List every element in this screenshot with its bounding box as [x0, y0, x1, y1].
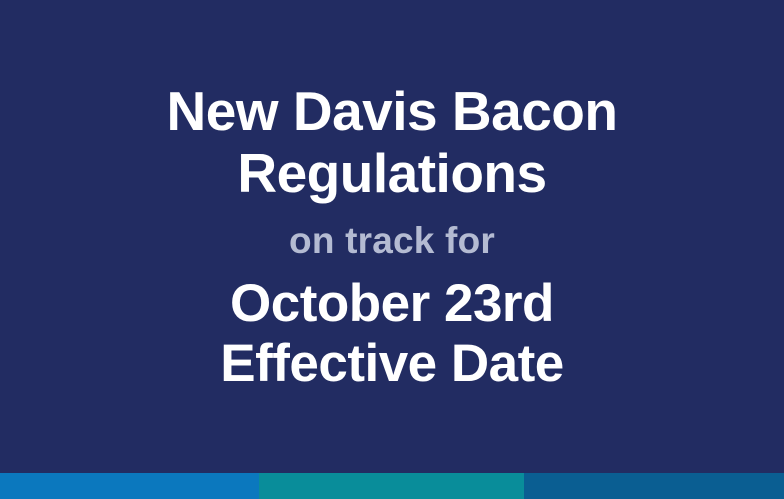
- date-headline-line-2: Effective Date: [220, 334, 564, 394]
- accent-bar-segment-blue: [0, 473, 259, 499]
- promo-banner: New Davis Bacon Regulations on track for…: [0, 0, 784, 499]
- subheadline: on track for: [289, 218, 495, 264]
- date-headline-block: October 23rd Effective Date: [220, 274, 564, 394]
- accent-bar: [0, 473, 784, 499]
- headline-line-1: New Davis Bacon: [166, 80, 617, 142]
- accent-bar-segment-teal: [259, 473, 524, 499]
- date-headline-line-1: October 23rd: [220, 274, 564, 334]
- headline-block: New Davis Bacon Regulations: [166, 80, 617, 204]
- accent-bar-segment-dark-blue: [524, 473, 784, 499]
- headline-line-2: Regulations: [166, 142, 617, 204]
- banner-content: New Davis Bacon Regulations on track for…: [0, 0, 784, 473]
